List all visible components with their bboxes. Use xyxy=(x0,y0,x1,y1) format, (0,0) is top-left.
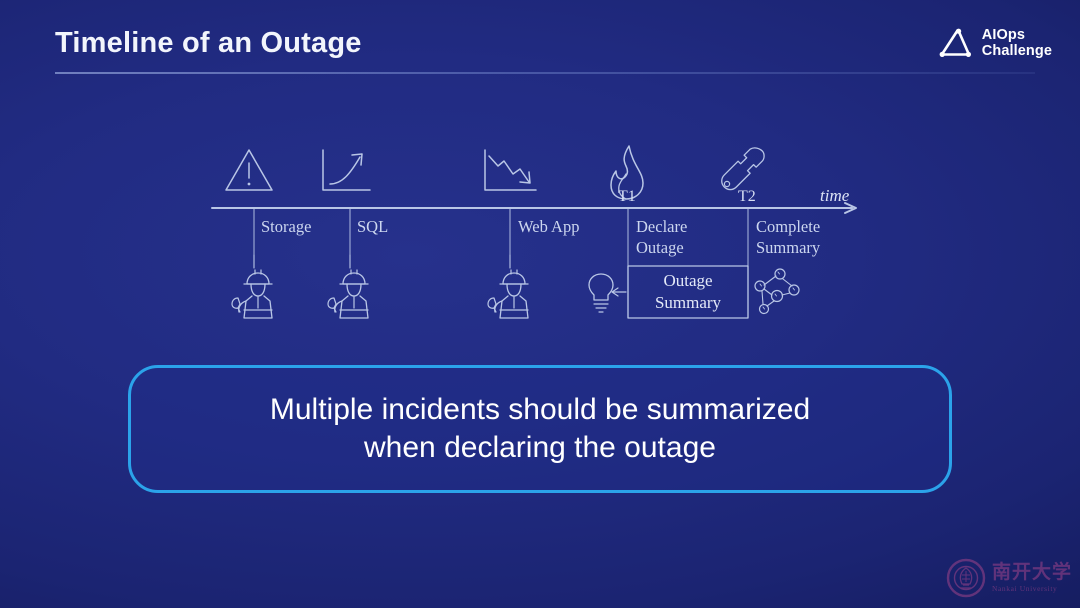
engineer-icon xyxy=(488,270,528,318)
nankai-logo-words: 南开大学 Nankai University xyxy=(992,563,1072,593)
aiops-logo-line1: AIOps xyxy=(982,27,1052,43)
warning-triangle-icon xyxy=(226,150,272,190)
nankai-name-cn: 南开大学 xyxy=(992,563,1072,582)
lightbulb-to-summary-arrow xyxy=(612,288,626,296)
network-graph-icon xyxy=(755,269,799,314)
phase-label-complete-summary: Complete Summary xyxy=(756,217,820,258)
nankai-seal-icon xyxy=(946,558,986,598)
timeline-connectors xyxy=(254,255,510,268)
falling-chart-icon xyxy=(485,150,536,190)
aiops-triangle-graph-icon xyxy=(937,26,973,60)
title-divider xyxy=(55,72,1035,74)
tick-label-t1: T1 xyxy=(618,188,636,206)
time-axis-label: time xyxy=(820,186,849,206)
phase-label-sql: SQL xyxy=(357,217,388,238)
nankai-name-en: Nankai University xyxy=(992,585,1072,593)
engineer-icon xyxy=(328,270,368,318)
timeline-diagram xyxy=(0,0,1080,608)
phase-label-storage: Storage xyxy=(261,217,311,238)
engineer-icon xyxy=(232,270,272,318)
aiops-challenge-logo: AIOps Challenge xyxy=(937,26,1052,60)
slide-canvas: Timeline of an Outage AIOps Challenge xyxy=(0,0,1080,608)
phase-label-web-app: Web App xyxy=(518,217,579,238)
callout-box: Multiple incidents should be summarized … xyxy=(128,365,952,493)
rising-chart-icon xyxy=(323,150,370,190)
tick-label-t2: T2 xyxy=(738,188,756,206)
timeline-axis xyxy=(212,203,856,213)
callout-text: Multiple incidents should be summarized … xyxy=(246,391,834,468)
nankai-university-logo: 南开大学 Nankai University xyxy=(946,558,1072,598)
lightbulb-icon xyxy=(589,274,613,312)
page-title: Timeline of an Outage xyxy=(55,27,362,60)
outage-summary-label: Outage Summary xyxy=(628,270,748,314)
aiops-logo-line2: Challenge xyxy=(982,43,1052,59)
wrench-icon xyxy=(722,148,764,190)
phase-label-declare-outage: Declare Outage xyxy=(636,217,687,258)
aiops-logo-words: AIOps Challenge xyxy=(982,27,1052,59)
